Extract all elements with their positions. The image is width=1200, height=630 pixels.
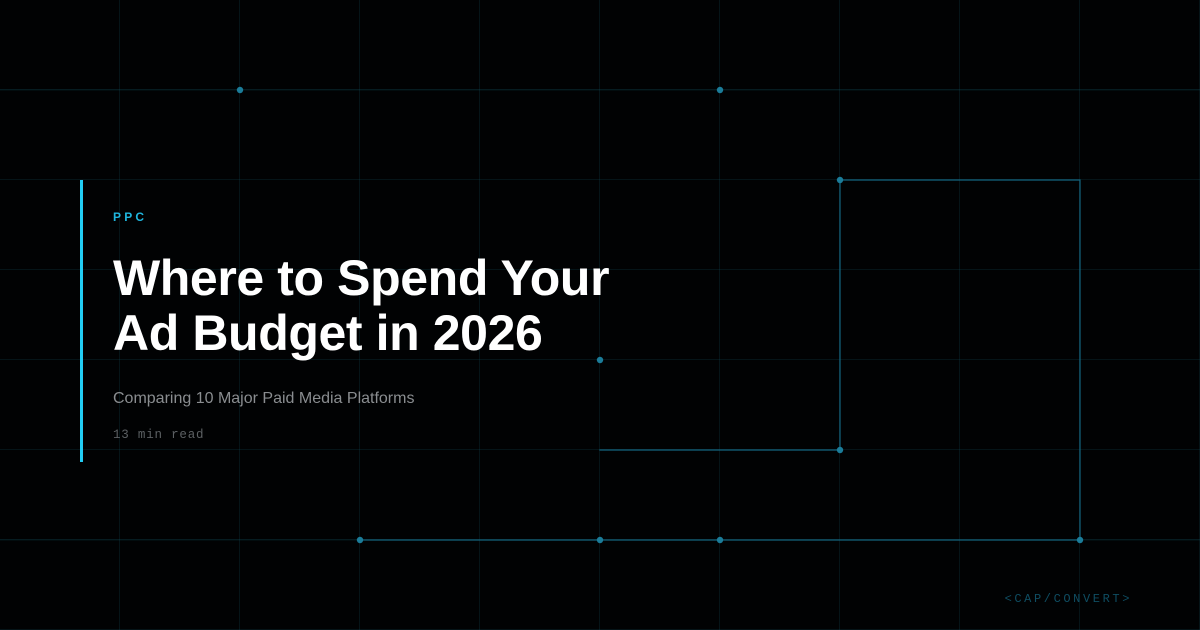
page-title: Where to Spend Your Ad Budget in 2026 (113, 223, 643, 361)
page-subtitle: Comparing 10 Major Paid Media Platforms (113, 361, 700, 410)
node-e (837, 447, 843, 453)
node-c (837, 177, 843, 183)
node-a (237, 87, 243, 93)
category-eyebrow: PPC (113, 180, 700, 223)
upper-right-trace (840, 180, 1080, 540)
node-g (597, 537, 603, 543)
node-f (357, 537, 363, 543)
node-h (717, 537, 723, 543)
hero-card: PPC Where to Spend Your Ad Budget in 202… (0, 0, 1200, 630)
hero-content: PPC Where to Spend Your Ad Budget in 202… (80, 180, 700, 462)
brand-logo: <CAP/CONVERT> (1005, 592, 1132, 606)
node-i (1077, 537, 1083, 543)
node-b (717, 87, 723, 93)
read-time-label: 13 min read (113, 410, 700, 442)
